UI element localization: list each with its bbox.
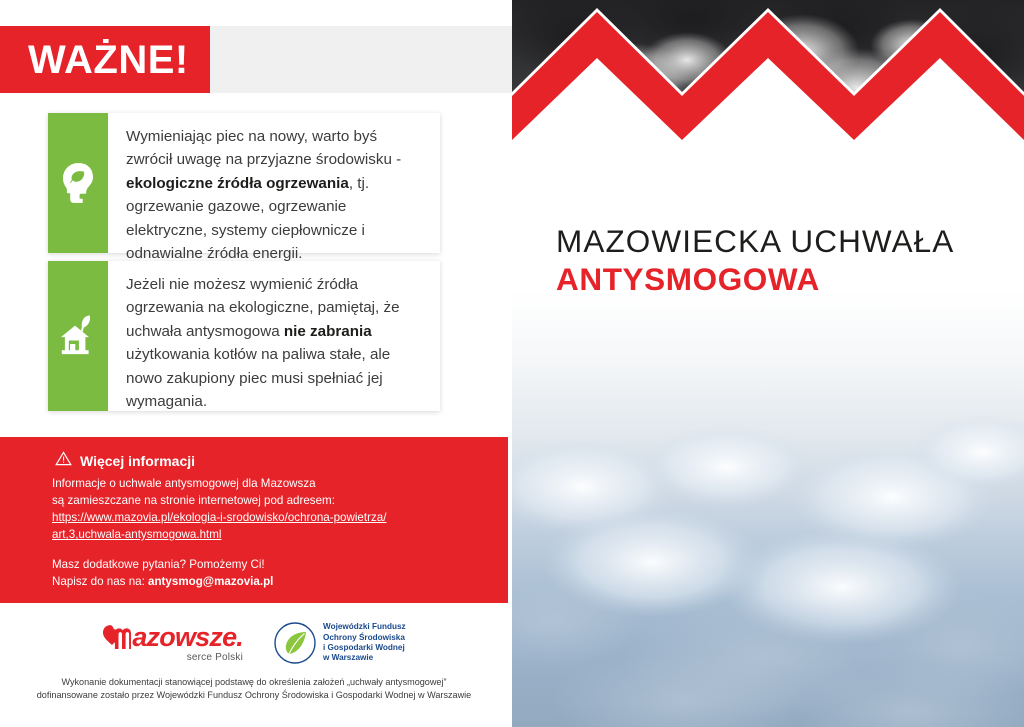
right-title: MAZOWIECKA UCHWAŁA ANTYSMOGOWA <box>556 222 1016 298</box>
footer-logos: azowsze. serce Polski Wojewódzki Fundusz… <box>0 612 508 674</box>
more-info-title: Więcej informacji <box>80 453 195 469</box>
clouds-photo <box>512 347 1024 727</box>
more-info-contact: Napisz do nas na: antysmog@mazovia.pl <box>52 573 482 590</box>
wfos-line-3: i Gospodarki Wodnej <box>323 643 406 653</box>
info-card-eco-sources: Wymieniając piec na nowy, warto byś zwró… <box>48 113 440 253</box>
mazowsze-logo: azowsze. serce Polski <box>102 623 243 663</box>
mazowsze-wordmark: azowsze. <box>102 623 243 651</box>
warning-triangle-icon <box>55 451 72 471</box>
spacer <box>52 543 482 556</box>
disclaimer-line-2: dofinansowane zostało przez Wojewódzki F… <box>0 689 508 702</box>
more-info-heading: Więcej informacji <box>55 451 195 471</box>
important-banner-label: WAŻNE! <box>28 36 189 84</box>
card2-paragraph: Jeżeli nie możesz wymienić źródła ogrzew… <box>126 273 424 413</box>
more-info-question: Masz dodatkowe pytania? Pomożemy Ci! <box>52 556 482 573</box>
right-panel: MAZOWIECKA UCHWAŁA ANTYSMOGOWA od 11 lis… <box>512 0 1024 727</box>
card1-paragraph: Wymieniając piec na nowy, warto byś zwró… <box>126 125 424 265</box>
brochure-page: WAŻNE! Wymieniając piec na nowy, warto b… <box>0 0 1024 727</box>
info-card-solid-fuel: Jeżeli nie możesz wymienić źródła ogrzew… <box>48 261 440 411</box>
info-card-solid-fuel-text: Jeżeli nie możesz wymienić źródła ogrzew… <box>108 261 440 411</box>
title-line-2: ANTYSMOGOWA <box>556 260 1016 298</box>
wfos-line-1: Wojewódzki Fundusz <box>323 622 406 632</box>
house-leaf-icon <box>48 261 108 411</box>
leaf-circle-icon <box>273 621 317 665</box>
contact-prefix: Napisz do nas na: <box>52 575 148 588</box>
funding-disclaimer: Wykonanie dokumentacji stanowiącej podst… <box>0 676 508 703</box>
disclaimer-line-1: Wykonanie dokumentacji stanowiącej podst… <box>0 676 508 689</box>
wfos-line-4: w Warszawie <box>323 653 406 663</box>
contact-email[interactable]: antysmog@mazovia.pl <box>148 575 273 588</box>
wfos-line-2: Ochrony Środowiska <box>323 633 406 643</box>
head-leaf-icon <box>48 113 108 253</box>
info-card-eco-sources-text: Wymieniając piec na nowy, warto byś zwró… <box>108 113 440 253</box>
title-line-1: MAZOWIECKA UCHWAŁA <box>556 222 1016 260</box>
mazovia-url-line-1[interactable]: https://www.mazovia.pl/ekologia-i-srodow… <box>52 509 482 526</box>
more-info-body: Informacje o uchwale antysmogowej dla Ma… <box>52 475 482 590</box>
left-panel: WAŻNE! Wymieniając piec na nowy, warto b… <box>0 0 512 727</box>
more-info-line-1: Informacje o uchwale antysmogowej dla Ma… <box>52 475 482 492</box>
more-info-line-2: są zamieszczane na stronie internetowej … <box>52 492 482 509</box>
wfos-logo: Wojewódzki Fundusz Ochrony Środowiska i … <box>273 621 406 665</box>
mazowsze-text: azowsze. <box>132 623 243 651</box>
mazovia-url-line-2[interactable]: art,3,uchwala-antysmogowa.html <box>52 526 482 543</box>
mazowsze-tagline: serce Polski <box>187 652 243 663</box>
heart-m-icon <box>102 624 132 651</box>
wfos-text: Wojewódzki Fundusz Ochrony Środowiska i … <box>323 622 406 664</box>
red-zigzag-graphic <box>512 0 1024 200</box>
